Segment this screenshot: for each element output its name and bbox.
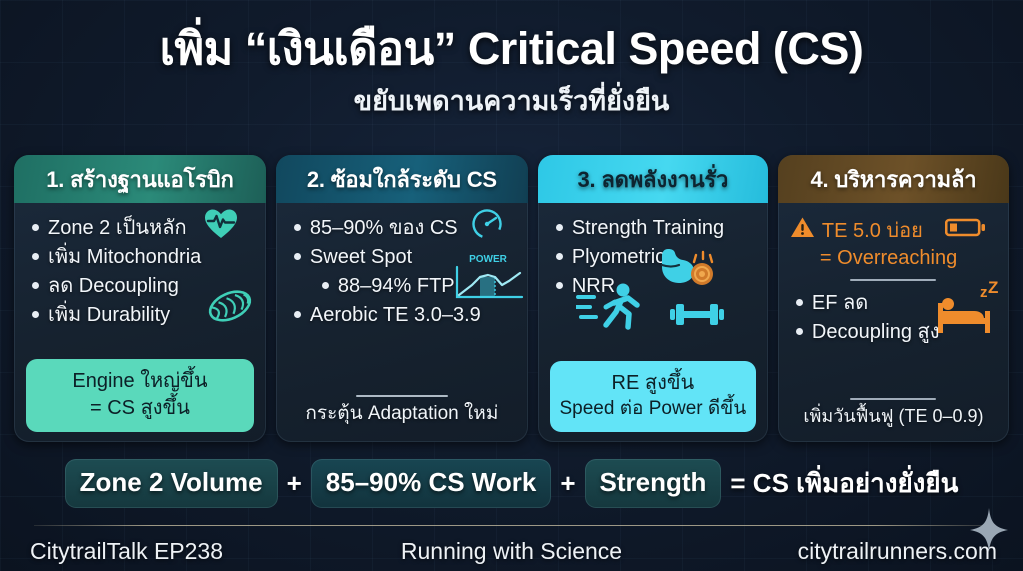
card-4-warning-line: TE 5.0 บ่อย [790,214,997,246]
running-icon [576,281,650,340]
dumbbell-icon [666,299,728,336]
card-4-footnote: เพิ่มวันฟื้นฟู (TE 0–0.9) [778,401,1009,430]
divider [850,398,936,400]
footer: CitytrailTalk EP238 Running with Science… [14,532,1009,570]
footer-divider [34,525,991,526]
warning-triangle-icon [790,216,815,245]
card-4-overreaching-text: = Overreaching [790,247,997,270]
card-1-highlight: Engine ใหญ่ขึ้น = CS สูงขึ้น [26,359,254,432]
card-reduce-energy-leak[interactable]: 3. ลดพลังงานรั่ว Strength Training Plyom… [538,155,768,442]
card-2-heading: 2. ซ้อมใกล้ระดับ CS [276,155,528,203]
cards-row: 1. สร้างฐานแอโรบิก Zone 2 เป็นหลัก เพิ่ม… [14,155,1009,442]
power-chart-icon: POWER [452,251,524,310]
formula-term-strength[interactable]: Strength [585,459,722,508]
card-3-heading: 3. ลดพลังงานรั่ว [538,155,768,203]
formula-term-zone2[interactable]: Zone 2 Volume [65,459,278,508]
divider [356,395,448,397]
svg-text:Z: Z [988,281,998,297]
card-manage-fatigue[interactable]: 4. บริหารความล้า TE 5.0 บ่อย [778,155,1009,442]
mitochondria-icon [206,285,254,332]
svg-text:z: z [980,284,988,301]
footer-website[interactable]: citytrailrunners.com [798,538,997,565]
card-3-highlight-line2: Speed ต่อ Power ดีขึ้น [554,396,752,421]
card-1-highlight-line2: = CS สูงขึ้น [30,395,250,421]
divider [850,279,936,281]
card-4-heading: 4. บริหารความล้า [778,155,1009,203]
card-2-body: 85–90% ของ CS Sweet Spot 88–94% FTP Aero… [276,203,528,442]
power-chart-label: POWER [469,254,508,265]
speedometer-icon [470,208,504,245]
heart-pulse-icon [204,208,238,245]
formula-operator-2: + [560,468,575,499]
formula-bar: Zone 2 Volume + 85–90% CS Work + Strengt… [14,455,1009,512]
infographic-root: เพิ่ม “เงินเดือน” Critical Speed (CS) ขย… [0,0,1023,571]
card-train-near-cs[interactable]: 2. ซ้อมใกล้ระดับ CS 85–90% ของ CS Sweet … [276,155,528,442]
card-3-highlight-line1: RE สูงขึ้น [554,370,752,396]
formula-term-cs-work[interactable]: 85–90% CS Work [311,459,552,508]
card-2-footnote: กระตุ้น Adaptation ใหม่ [276,398,528,428]
card-3-body: Strength Training Plyometrics NRR [538,203,768,442]
formula-operator-1: + [287,468,302,499]
biceps-icon [654,243,716,302]
low-battery-icon [945,216,987,244]
sparkle-icon [969,508,1009,557]
card-1-body: Zone 2 เป็นหลัก เพิ่ม Mitochondria ลด De… [14,203,266,442]
page-subtitle: ขยับเพดานความเร็วที่ยั่งยืน [0,79,1023,122]
card-4-warning-text: TE 5.0 บ่อย [822,214,923,246]
card-1-heading: 1. สร้างฐานแอโรบิก [14,155,266,203]
card-3-highlight: RE สูงขึ้น Speed ต่อ Power ดีขึ้น [550,361,756,432]
card-4-body: TE 5.0 บ่อย = Overreaching EF ลด Decoupl… [778,203,1009,442]
card-1-highlight-line1: Engine ใหญ่ขึ้น [30,368,250,394]
sleeping-in-bed-icon: z Z [930,281,1002,342]
list-item: Strength Training [550,214,756,242]
card-aerobic-base[interactable]: 1. สร้างฐานแอโรบิก Zone 2 เป็นหลัก เพิ่ม… [14,155,266,442]
page-title: เพิ่ม “เงินเดือน” Critical Speed (CS) [0,0,1023,73]
formula-result: = CS เพิ่มอย่างยั่งยืน [730,463,958,504]
list-item: เพิ่ม Mitochondria [26,243,254,271]
